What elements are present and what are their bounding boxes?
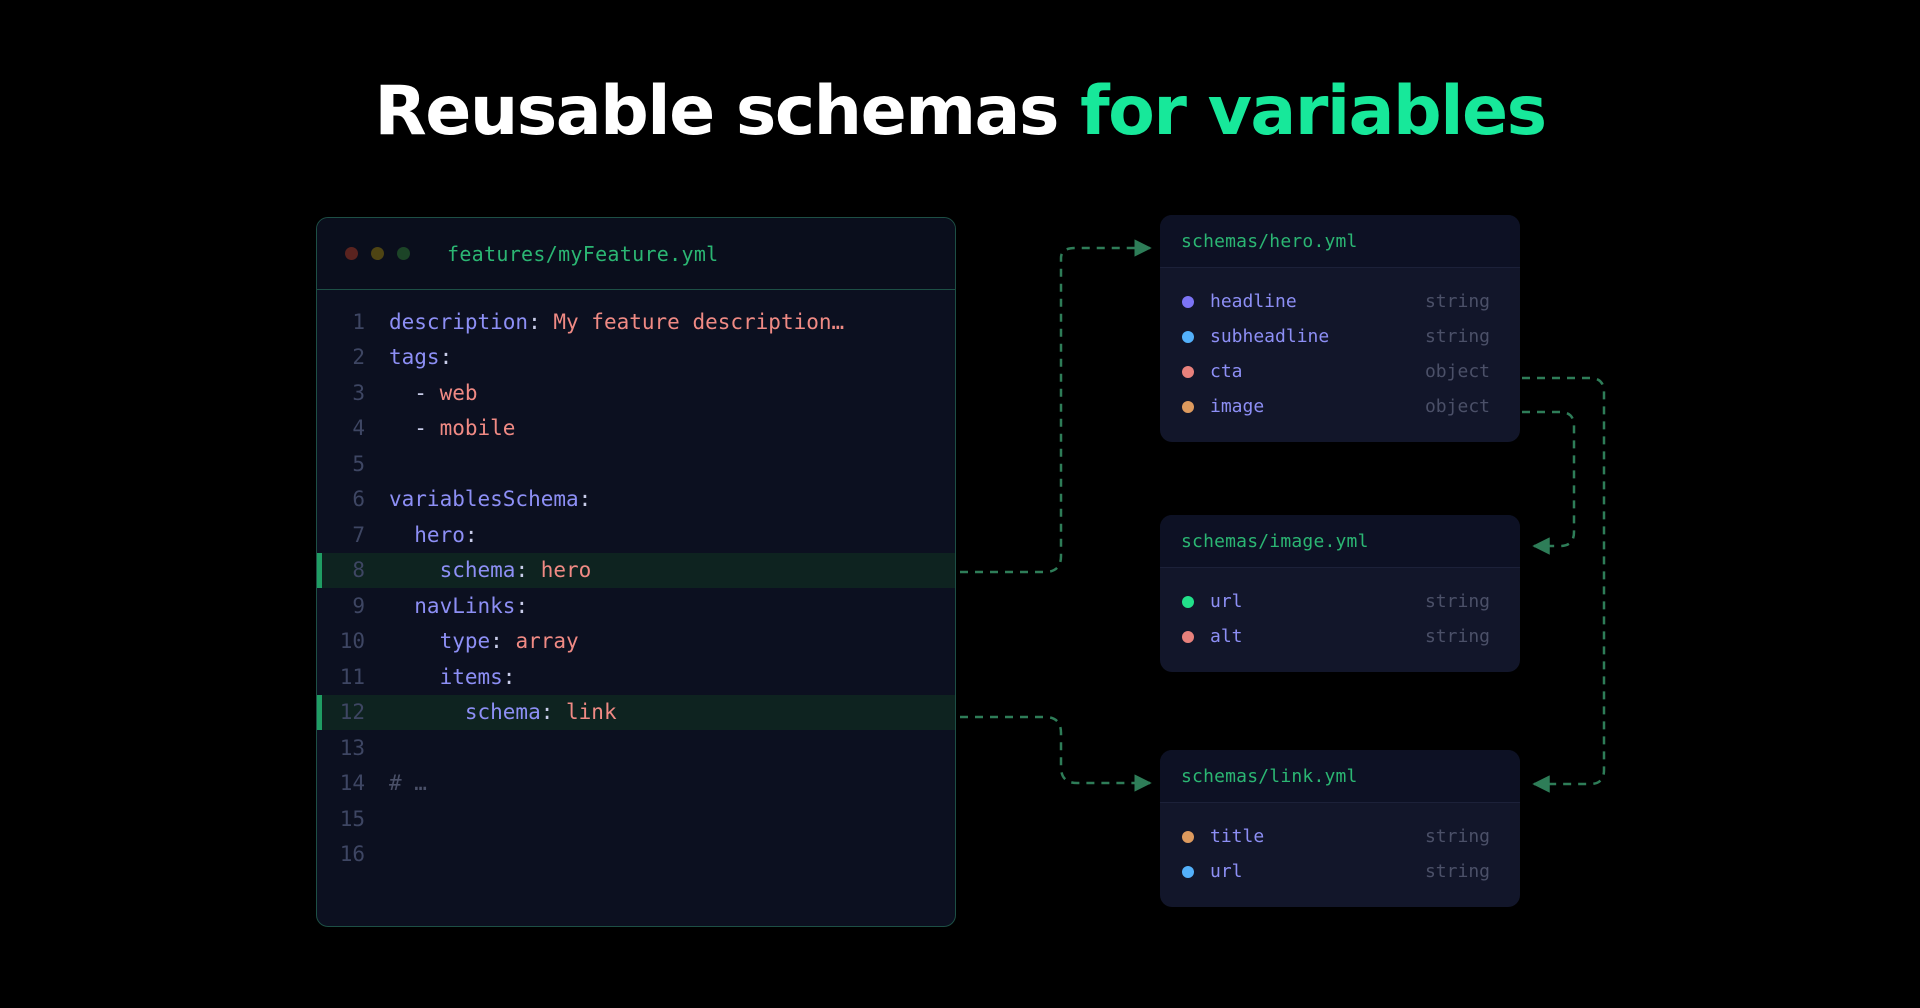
schema-panel-header: schemas/image.yml <box>1160 515 1520 568</box>
field-name: title <box>1210 826 1425 847</box>
line-number: 14 <box>317 771 389 795</box>
token-val: web <box>440 381 478 405</box>
code-line-10[interactable]: 10 type: array <box>317 624 955 660</box>
token-punct: : <box>579 487 592 511</box>
close-dot-icon[interactable] <box>345 247 358 260</box>
token-key: tags <box>389 345 440 369</box>
code-line-7[interactable]: 7 hero: <box>317 517 955 553</box>
schema-field-row[interactable]: ctaobject <box>1160 354 1520 389</box>
token-punct: : <box>465 523 478 547</box>
minimize-dot-icon[interactable] <box>371 247 384 260</box>
schema-panel-link: schemas/link.yml titlestringurlstring <box>1160 750 1520 907</box>
token-punct: : <box>541 700 566 724</box>
code-line-11[interactable]: 11 items: <box>317 659 955 695</box>
field-type-dot-icon <box>1182 401 1194 413</box>
token-key: items <box>389 665 503 689</box>
field-name: cta <box>1210 361 1425 382</box>
token-comment: # … <box>389 771 427 795</box>
token-val: array <box>515 629 578 653</box>
field-type: object <box>1425 361 1490 382</box>
line-number: 6 <box>317 487 389 511</box>
schema-field-row[interactable]: urlstring <box>1160 854 1520 889</box>
field-type-dot-icon <box>1182 596 1194 608</box>
field-type: string <box>1425 326 1490 347</box>
code-line-5[interactable]: 5 <box>317 446 955 482</box>
line-content: variablesSchema: <box>389 487 591 511</box>
line-content: hero: <box>389 523 478 547</box>
line-number: 2 <box>317 345 389 369</box>
code-line-14[interactable]: 14# … <box>317 766 955 802</box>
line-number: 7 <box>317 523 389 547</box>
field-name: image <box>1210 396 1425 417</box>
field-name: alt <box>1210 626 1425 647</box>
token-key: schema <box>389 700 541 724</box>
field-type-dot-icon <box>1182 866 1194 878</box>
connector-line12-to-link <box>960 717 1150 783</box>
token-key: type <box>389 629 490 653</box>
connector-diagram <box>0 0 1920 1008</box>
schema-field-row[interactable]: imageobject <box>1160 389 1520 424</box>
token-punct: : <box>503 665 516 689</box>
token-key: navLinks <box>389 594 515 618</box>
line-number: 16 <box>317 842 389 866</box>
token-val: My feature description… <box>553 310 844 334</box>
token-punct: : <box>528 310 553 334</box>
line-number: 3 <box>317 381 389 405</box>
line-number: 11 <box>317 665 389 689</box>
field-type-dot-icon <box>1182 366 1194 378</box>
field-type: string <box>1425 861 1490 882</box>
token-punct: : <box>515 594 528 618</box>
code-window-filename: features/myFeature.yml <box>447 242 719 266</box>
code-line-13[interactable]: 13 <box>317 730 955 766</box>
schema-field-row[interactable]: headlinestring <box>1160 284 1520 319</box>
code-window: features/myFeature.yml 1description: My … <box>316 217 956 927</box>
code-editor-body[interactable]: 1description: My feature description…2ta… <box>317 290 955 872</box>
schema-field-list: headlinestringsubheadlinestringctaobject… <box>1160 268 1520 442</box>
token-val: hero <box>541 558 592 582</box>
line-number: 9 <box>317 594 389 618</box>
token-key: hero <box>389 523 465 547</box>
code-line-6[interactable]: 6variablesSchema: <box>317 482 955 518</box>
field-type: string <box>1425 626 1490 647</box>
field-name: subheadline <box>1210 326 1425 347</box>
line-number: 15 <box>317 807 389 831</box>
field-type: object <box>1425 396 1490 417</box>
page-title: Reusable schemas for variables <box>0 72 1920 151</box>
line-content: - web <box>389 381 478 405</box>
line-number: 12 <box>317 700 389 724</box>
field-type: string <box>1425 291 1490 312</box>
line-number: 4 <box>317 416 389 440</box>
line-content: schema: link <box>389 700 617 724</box>
line-content: - mobile <box>389 416 515 440</box>
field-name: url <box>1210 861 1425 882</box>
schema-panel-header: schemas/hero.yml <box>1160 215 1520 268</box>
line-number: 13 <box>317 736 389 760</box>
schema-panel-hero: schemas/hero.yml headlinestringsubheadli… <box>1160 215 1520 442</box>
line-content: items: <box>389 665 515 689</box>
maximize-dot-icon[interactable] <box>397 247 410 260</box>
line-number: 10 <box>317 629 389 653</box>
code-line-8[interactable]: 8 schema: hero <box>317 553 955 589</box>
schema-field-row[interactable]: altstring <box>1160 619 1520 654</box>
field-name: url <box>1210 591 1425 612</box>
token-val: link <box>566 700 617 724</box>
line-content: tags: <box>389 345 452 369</box>
code-window-titlebar: features/myFeature.yml <box>317 218 955 290</box>
code-line-2[interactable]: 2tags: <box>317 340 955 376</box>
token-punct: : <box>515 558 540 582</box>
code-line-15[interactable]: 15 <box>317 801 955 837</box>
token-key: schema <box>389 558 515 582</box>
token-val: mobile <box>440 416 516 440</box>
field-type-dot-icon <box>1182 331 1194 343</box>
page-title-accent: for variables <box>1080 72 1546 151</box>
field-type-dot-icon <box>1182 831 1194 843</box>
code-line-4[interactable]: 4 - mobile <box>317 411 955 447</box>
slide-canvas: Reusable schemas for variables features/… <box>0 0 1920 1008</box>
line-number: 5 <box>317 452 389 476</box>
field-type-dot-icon <box>1182 296 1194 308</box>
line-number: 1 <box>317 310 389 334</box>
schema-panel-image: schemas/image.yml urlstringaltstring <box>1160 515 1520 672</box>
schema-panel-title: schemas/link.yml <box>1181 766 1358 787</box>
line-content: description: My feature description… <box>389 310 844 334</box>
line-content: schema: hero <box>389 558 591 582</box>
schema-panel-title: schemas/hero.yml <box>1181 231 1358 252</box>
code-line-3[interactable]: 3 - web <box>317 375 955 411</box>
token-dash: - <box>389 416 440 440</box>
field-name: headline <box>1210 291 1425 312</box>
token-key: description <box>389 310 528 334</box>
connector-cta-to-link <box>1522 378 1604 784</box>
token-key: variablesSchema <box>389 487 579 511</box>
schema-panel-header: schemas/link.yml <box>1160 750 1520 803</box>
field-type: string <box>1425 591 1490 612</box>
page-title-main: Reusable schemas <box>374 72 1080 151</box>
schema-field-row[interactable]: urlstring <box>1160 584 1520 619</box>
code-line-1[interactable]: 1description: My feature description… <box>317 304 955 340</box>
line-content: # … <box>389 771 427 795</box>
schema-field-row[interactable]: titlestring <box>1160 819 1520 854</box>
schema-field-list: titlestringurlstring <box>1160 803 1520 907</box>
code-line-9[interactable]: 9 navLinks: <box>317 588 955 624</box>
schema-field-list: urlstringaltstring <box>1160 568 1520 672</box>
token-punct: : <box>490 629 515 653</box>
code-line-12[interactable]: 12 schema: link <box>317 695 955 731</box>
connector-image-to-image <box>1522 412 1574 546</box>
token-dash: - <box>389 381 440 405</box>
code-line-16[interactable]: 16 <box>317 837 955 873</box>
field-type-dot-icon <box>1182 631 1194 643</box>
schema-panel-title: schemas/image.yml <box>1181 531 1369 552</box>
connector-line8-to-hero <box>960 248 1150 572</box>
schema-field-row[interactable]: subheadlinestring <box>1160 319 1520 354</box>
line-content: type: array <box>389 629 579 653</box>
token-punct: : <box>440 345 453 369</box>
line-content: navLinks: <box>389 594 528 618</box>
line-number: 8 <box>317 558 389 582</box>
field-type: string <box>1425 826 1490 847</box>
